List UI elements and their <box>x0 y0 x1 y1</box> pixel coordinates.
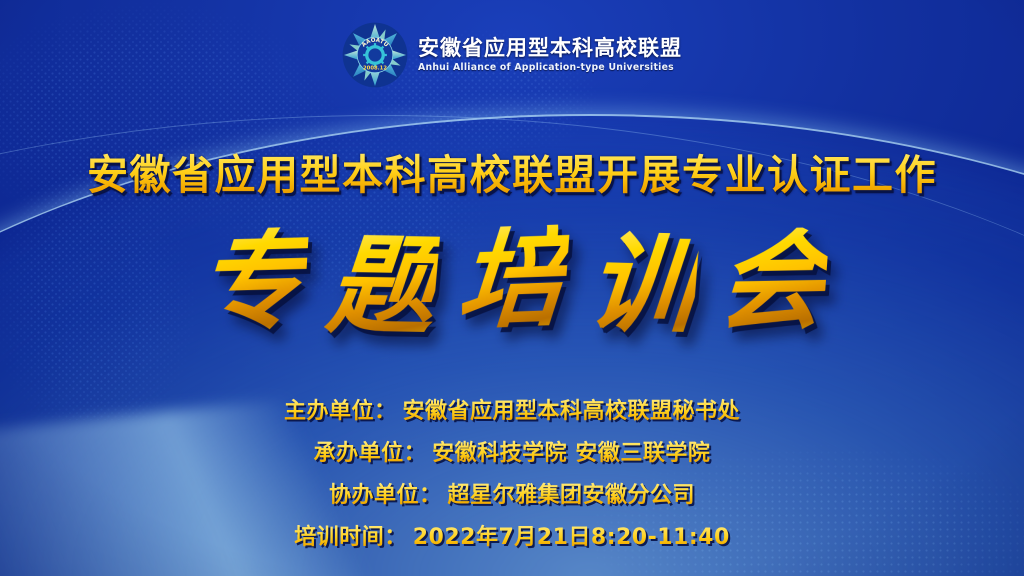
info-value-coorganizer: 超星尔雅集团安徽分公司 <box>448 477 696 509</box>
calligraphy-char-4: 训 <box>584 230 700 341</box>
info-label-host: 承办单位： <box>314 435 427 467</box>
info-line-coorganizer: 协办单位： 超星尔雅集团安徽分公司 <box>329 477 695 509</box>
info-label-coorganizer: 协办单位： <box>329 477 442 509</box>
info-label-time: 培训时间： <box>294 519 407 551</box>
organization-name-block: 安徽省应用型本科高校联盟 Anhui Alliance of Applicati… <box>418 37 682 73</box>
organization-logo-lockup: AAOATU 2008.12 安徽省应用型本科高校联盟 Anhui Allian… <box>0 22 1024 88</box>
slide-headline: 安徽省应用型本科高校联盟开展专业认证工作 <box>0 141 1024 201</box>
info-line-host: 承办单位： 安徽科技学院 安徽三联学院 <box>314 435 711 467</box>
organization-name-en: Anhui Alliance of Application-type Unive… <box>418 62 682 73</box>
info-label-organizer: 主办单位： <box>284 393 397 425</box>
calligraphy-char-3: 培 <box>454 224 570 336</box>
info-line-time: 培训时间： 2022年7月21日8:20-11:40 <box>294 519 730 551</box>
info-value-host: 安徽科技学院 安徽三联学院 <box>432 435 710 467</box>
calligraphy-char-2: 题 <box>323 231 440 341</box>
info-line-organizer: 主办单位： 安徽省应用型本科高校联盟秘书处 <box>284 393 740 425</box>
presentation-slide: AAOATU 2008.12 安徽省应用型本科高校联盟 Anhui Allian… <box>0 0 1024 576</box>
aaoatu-emblem-icon: AAOATU 2008.12 <box>342 22 408 88</box>
emblem-year-text: 2008.12 <box>363 66 387 72</box>
organization-name-cn: 安徽省应用型本科高校联盟 <box>418 37 682 60</box>
calligraphy-char-5: 会 <box>714 227 830 337</box>
event-info-block: 主办单位： 安徽省应用型本科高校联盟秘书处 承办单位： 安徽科技学院 安徽三联学… <box>0 393 1024 551</box>
calligraphy-title: 专 题 培 训 会 <box>0 212 1024 352</box>
info-value-organizer: 安徽省应用型本科高校联盟秘书处 <box>403 393 741 425</box>
calligraphy-char-1: 专 <box>195 227 310 338</box>
info-value-time: 2022年7月21日8:20-11:40 <box>413 519 730 551</box>
